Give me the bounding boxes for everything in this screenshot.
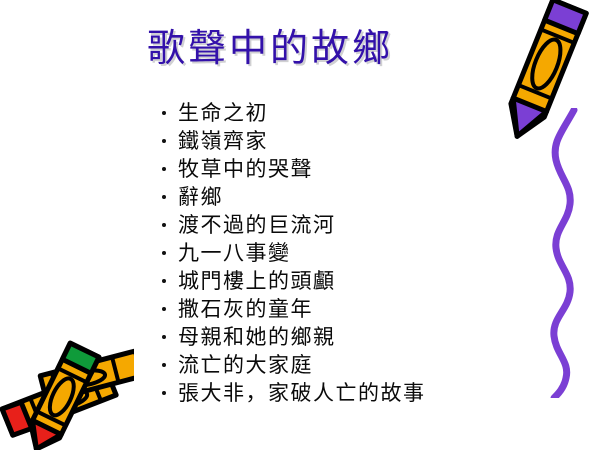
bullet-icon [162,251,166,255]
bullet-icon [162,335,166,339]
bullet-list: 生命之初 鐵嶺齊家 牧草中的哭聲 辭鄉 渡不過的巨流河 九一八事變 城門樓上的頭… [158,99,558,407]
list-item: 母親和她的鄉親 [158,323,558,351]
page-title: 歌聲中的故鄉 [0,26,540,70]
list-item: 鐵嶺齊家 [158,127,558,155]
list-item-label: 張大非，家破人亡的故事 [178,379,426,407]
list-item: 九一八事變 [158,239,558,267]
crayons-cluster-icon [0,338,134,450]
list-item-label: 生命之初 [178,99,268,127]
list-item-label: 辭鄉 [178,183,223,211]
crayon-green-tip-icon [22,343,99,450]
crayon-red-tip-left-icon [0,368,120,436]
bullet-icon [162,139,166,143]
list-item-label: 流亡的大家庭 [178,351,313,379]
bullet-icon [162,307,166,311]
list-item-label: 牧草中的哭聲 [178,155,313,183]
list-item-label: 母親和她的鄉親 [178,323,336,351]
list-item-label: 鐵嶺齊家 [178,127,268,155]
list-item: 撒石灰的童年 [158,295,558,323]
list-item: 渡不過的巨流河 [158,211,558,239]
list-item-label: 渡不過的巨流河 [178,211,336,239]
list-item: 張大非，家破人亡的故事 [158,379,558,407]
bullet-icon [162,195,166,199]
bullet-icon [162,167,166,171]
list-item-label: 撒石灰的童年 [178,295,313,323]
bullet-icon [162,223,166,227]
bullet-icon [162,363,166,367]
list-item: 生命之初 [158,99,558,127]
presentation-slide: 歌聲中的故鄉 生命之初 鐵嶺齊家 牧草中的哭聲 辭鄉 渡不過的巨流河 九一八事變 [0,0,600,450]
list-item: 流亡的大家庭 [158,351,558,379]
bullet-icon [162,391,166,395]
list-item-label: 九一八事變 [178,239,291,267]
list-item-label: 城門樓上的頭顱 [178,267,336,295]
bullet-icon [162,111,166,115]
list-item: 辭鄉 [158,183,558,211]
list-item: 城門樓上的頭顱 [158,267,558,295]
crayon-upper-right-icon [39,351,134,402]
bullet-icon [162,279,166,283]
list-item: 牧草中的哭聲 [158,155,558,183]
